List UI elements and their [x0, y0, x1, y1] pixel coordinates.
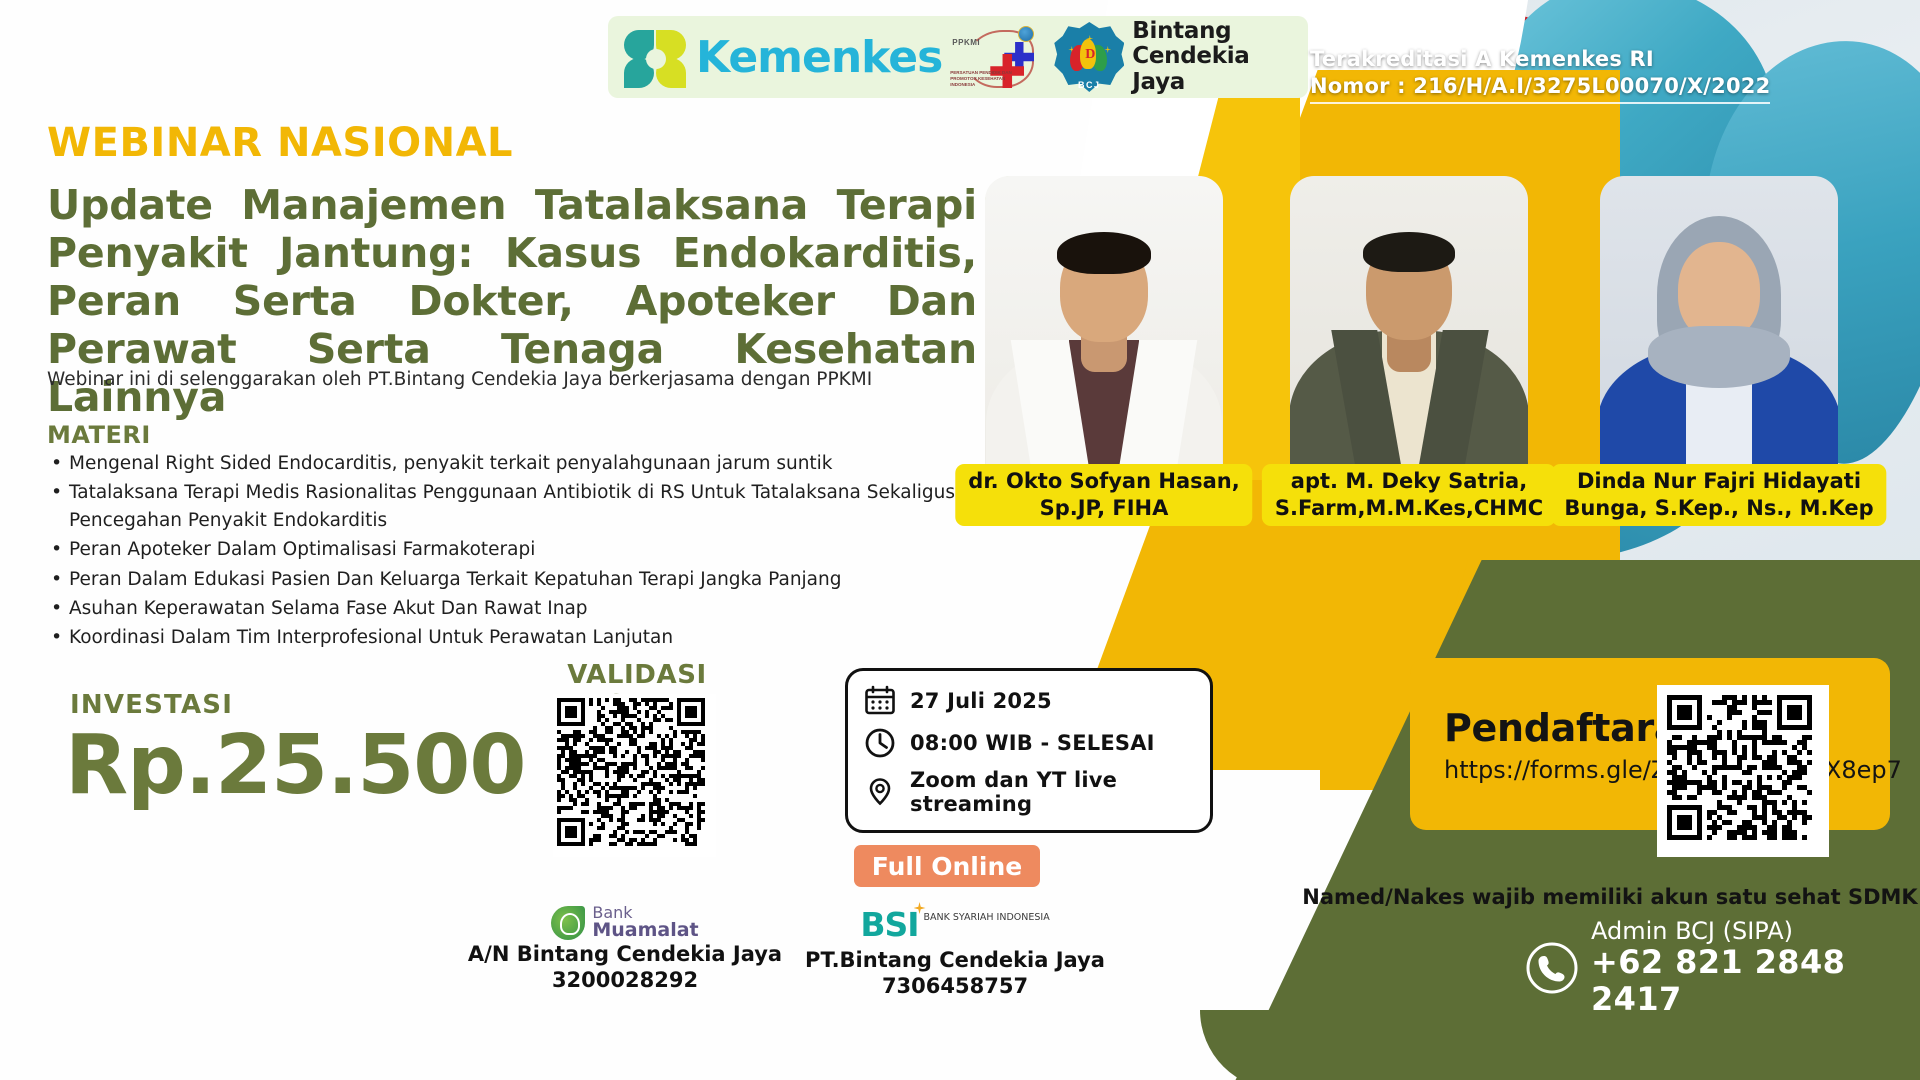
bsi-account-number: 7306458757 — [800, 974, 1110, 1000]
speaker-name-1-line2: Sp.JP, FIHA — [968, 495, 1239, 522]
materi-heading: MATERI — [47, 421, 151, 449]
event-date: 27 Juli 2025 — [910, 689, 1052, 713]
event-organizer-subtitle: Webinar ini di selenggarakan oleh PT.Bin… — [47, 369, 947, 390]
speaker-name-3-line2: Bunga, S.Kep., Ns., M.Kep — [1564, 495, 1873, 522]
partner-logo-bar: Kemenkes PPKMI PERSATUAN PENDIDIK DAN PR… — [608, 16, 1308, 98]
event-location-row: Zoom dan YT live streaming — [864, 768, 1194, 816]
bintang-line-1: Bintang — [1132, 19, 1294, 44]
full-online-badge: Full Online — [854, 845, 1040, 887]
registration-note: Named/Nakes wajib memiliki akun satu seh… — [1300, 885, 1920, 909]
materi-list: Mengenal Right Sided Endocarditis, penya… — [47, 450, 977, 654]
validasi-skp-qr[interactable] — [553, 694, 716, 857]
ppkmi-logo-icon: PPKMI PERSATUAN PENDIDIK DAN PROMOTOR KE… — [950, 24, 1046, 90]
bsi-wordmark: BSI — [860, 905, 918, 944]
materi-item: Tatalaksana Terapi Medis Rasionalitas Pe… — [47, 479, 977, 534]
muamalat-mark-icon — [551, 906, 585, 940]
investasi-price: Rp.25.500 — [65, 718, 525, 813]
bsi-account-name: PT.Bintang Cendekia Jaya — [800, 948, 1110, 974]
speaker-card-1: dr. Okto Sofyan Hasan, Sp.JP, FIHA — [985, 176, 1223, 520]
materi-item: Asuhan Keperawatan Selama Fase Akut Dan … — [47, 595, 977, 622]
muamalat-logo-line2: Muamalat — [592, 921, 698, 940]
speaker-name-1-line1: dr. Okto Sofyan Hasan, — [968, 469, 1239, 493]
accreditation-line-1: Terakreditasi A Kemenkes RI — [1310, 46, 1780, 73]
accreditation-text: Terakreditasi A Kemenkes RI Nomor : 216/… — [1310, 46, 1780, 104]
webinar-poster: Kemenkes PPKMI PERSATUAN PENDIDIK DAN PR… — [0, 0, 1920, 1080]
bcj-initials: BCJ — [1054, 80, 1124, 90]
speaker-name-3-line1: Dinda Nur Fajri Hidayati — [1577, 469, 1861, 493]
ppkmi-label: PPKMI — [952, 38, 980, 47]
event-location: Zoom dan YT live streaming — [910, 768, 1194, 816]
admin-phone: +62 821 2848 2417 — [1591, 944, 1920, 1018]
calendar-icon — [864, 685, 896, 717]
bank-muamalat-logo: Bank Muamalat — [460, 905, 790, 940]
event-date-row: 27 Juli 2025 — [864, 685, 1194, 717]
accreditation-line-2: Nomor : 216/H/A.I/3275L00070/X/2022 — [1310, 73, 1770, 103]
bcj-logo-icon: D BCJ — [1054, 22, 1124, 92]
speaker-card-3: Dinda Nur Fajri Hidayati Bunga, S.Kep., … — [1600, 176, 1838, 520]
bintang-cendekia-jaya-wordmark: Bintang Cendekia Jaya — [1132, 19, 1294, 95]
materi-item: Peran Apoteker Dalam Optimalisasi Farmak… — [47, 536, 977, 563]
investasi-label: INVESTASI — [70, 690, 233, 720]
bcj-monogram: D — [1085, 47, 1095, 63]
admin-contact-block[interactable]: Admin BCJ (SIPA) +62 821 2848 2417 — [1525, 918, 1920, 1018]
materi-item: Mengenal Right Sided Endocarditis, penya… — [47, 450, 977, 477]
webinar-kicker: WEBINAR NASIONAL — [47, 120, 513, 166]
materi-item: Koordinasi Dalam Tim Interprofesional Un… — [47, 624, 977, 651]
bintang-line-2: Cendekia Jaya — [1132, 44, 1294, 95]
clock-icon — [864, 727, 896, 759]
green-leaf-corner — [1200, 1010, 1500, 1080]
muamalat-account-name: A/N Bintang Cendekia Jaya — [460, 942, 790, 968]
speaker-name-2-line2: S.Farm,M.M.Kes,CHMC — [1275, 495, 1543, 522]
kemenkes-wordmark: Kemenkes — [696, 32, 942, 83]
location-pin-icon — [864, 776, 896, 808]
bsi-sublabel: BANK SYARIAH INDONESIA — [924, 913, 1050, 924]
bank-muamalat-block: Bank Muamalat A/N Bintang Cendekia Jaya … — [460, 905, 790, 993]
speaker-name-2: apt. M. Deky Satria, S.Farm,M.M.Kes,CHMC — [1262, 464, 1556, 526]
bank-bsi-block: BSI BANK SYARIAH INDONESIA PT.Bintang Ce… — [800, 905, 1110, 999]
muamalat-account-number: 3200028292 — [460, 968, 790, 994]
speaker-card-2: apt. M. Deky Satria, S.Farm,M.M.Kes,CHMC — [1290, 176, 1528, 520]
materi-item: Peran Dalam Edukasi Pasien Dan Keluarga … — [47, 566, 977, 593]
kemenkes-logo-icon — [622, 27, 688, 87]
registration-url[interactable]: https://forms.gle/ZmJpFb3ij51WX8ep7 — [1444, 756, 1659, 785]
speaker-name-1: dr. Okto Sofyan Hasan, Sp.JP, FIHA — [955, 464, 1252, 526]
event-time-row: 08:00 WIB - SELESAI — [864, 727, 1194, 759]
admin-label: Admin BCJ (SIPA) — [1591, 918, 1920, 944]
speaker-name-2-line1: apt. M. Deky Satria, — [1291, 469, 1527, 493]
speaker-name-3: Dinda Nur Fajri Hidayati Bunga, S.Kep., … — [1551, 464, 1886, 526]
event-details-box: 27 Juli 2025 08:00 WIB - SELESAI Zoom da… — [845, 668, 1213, 833]
phone-icon — [1525, 941, 1579, 995]
pendaftaran-qr[interactable] — [1657, 685, 1829, 857]
event-time: 08:00 WIB - SELESAI — [910, 731, 1155, 755]
bank-bsi-logo: BSI BANK SYARIAH INDONESIA — [800, 905, 1110, 944]
ppkmi-sublabel: PERSATUAN PENDIDIK DAN PROMOTOR KESEHATA… — [950, 70, 1012, 88]
